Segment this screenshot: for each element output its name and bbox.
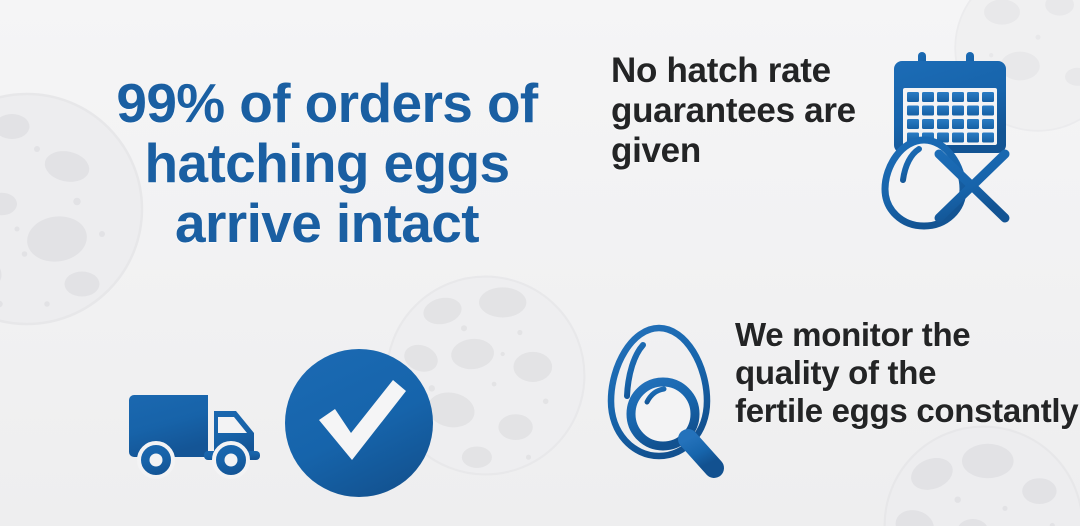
calendar-egg-cross-icon — [877, 50, 1022, 230]
speckled-egg-watermark-bottom-right — [876, 418, 1080, 526]
egg-magnifier-icon — [601, 322, 731, 487]
check-circle-icon — [283, 347, 435, 499]
statement-no-hatch-rate-guarantee: No hatch rate guarantees are given — [611, 51, 901, 171]
infographic-canvas: 99% of orders of hatching eggs arrive in… — [0, 0, 1080, 526]
statement-quality-monitoring: We monitor the quality of the fertile eg… — [735, 316, 1080, 430]
delivery-truck-icon — [100, 381, 272, 481]
page-title: 99% of orders of hatching eggs arrive in… — [92, 74, 562, 254]
